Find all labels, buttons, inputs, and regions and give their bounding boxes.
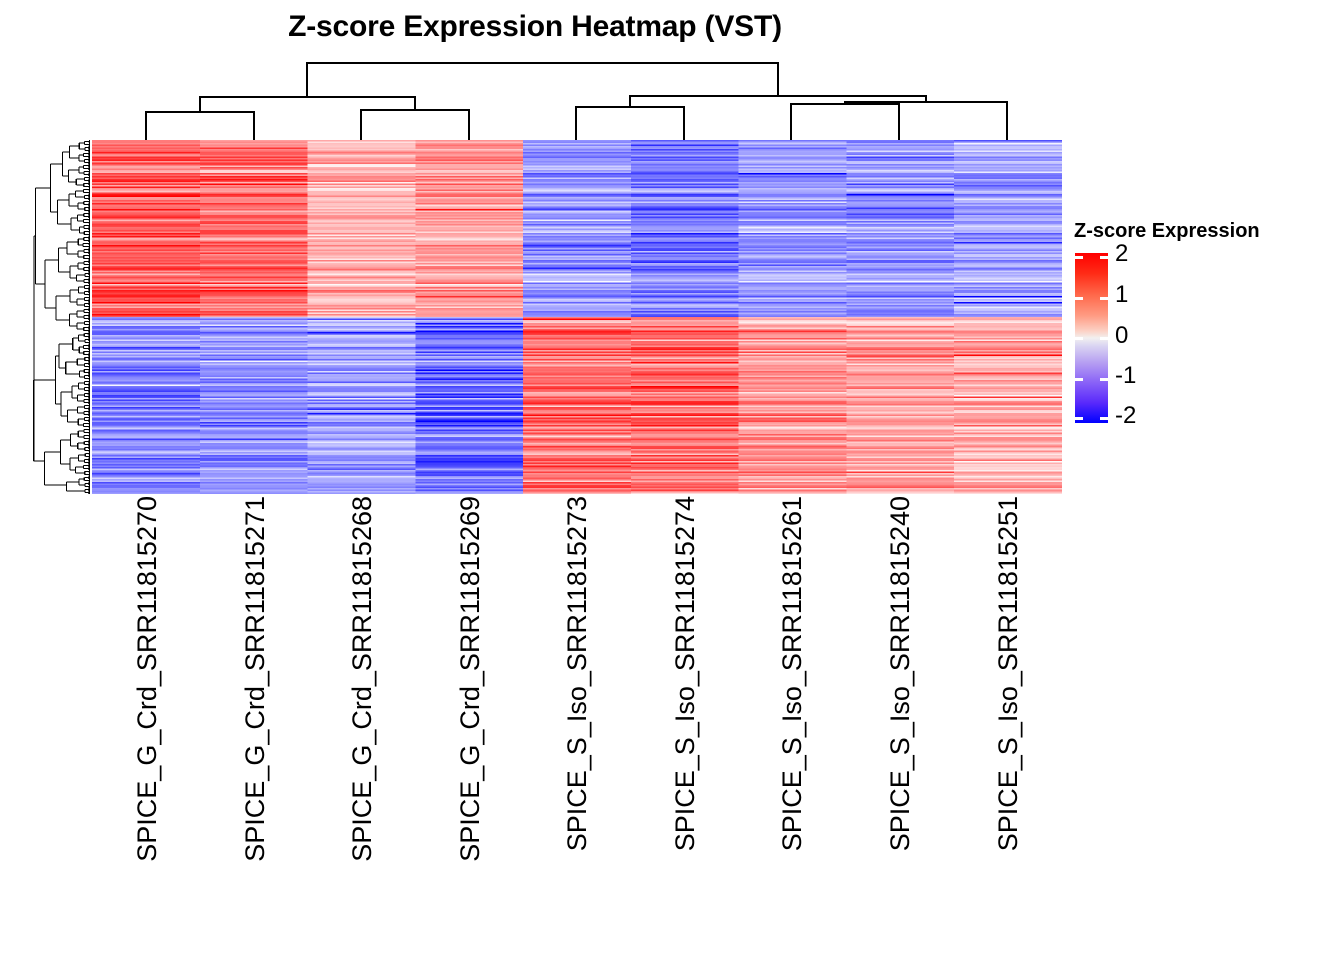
column-dendrogram <box>92 58 1062 140</box>
column-label-7: SPICE_S_Iso_SRR11815240 <box>887 496 914 851</box>
colorbar[interactable] <box>1075 253 1108 423</box>
column-label-2: SPICE_G_Crd_SRR11815268 <box>349 496 376 862</box>
column-label-0: SPICE_G_Crd_SRR11815270 <box>134 496 161 862</box>
colorbar-tick-1-right <box>1100 297 1108 300</box>
colorbar-tick-0-right <box>1100 337 1108 340</box>
heatmap-cells[interactable] <box>92 140 1062 494</box>
column-label-6: SPICE_S_Iso_SRR11815261 <box>779 496 806 851</box>
colorbar-tick-2-left <box>1075 256 1083 259</box>
legend-tick-label-2: 2 <box>1115 242 1128 266</box>
heatmap-figure: Z-score Expression Heatmap (VST) <box>0 0 1344 960</box>
column-label-3: SPICE_G_Crd_SRR11815269 <box>457 496 484 862</box>
colorbar-tick-1-left <box>1075 297 1083 300</box>
legend-tick-label-1: 1 <box>1115 283 1128 307</box>
column-labels: SPICE_G_Crd_SRR11815270 SPICE_G_Crd_SRR1… <box>92 496 1062 936</box>
legend-tick-label-neg2: -2 <box>1115 404 1136 428</box>
legend-tick-label-neg1: -1 <box>1115 364 1136 388</box>
column-label-4: SPICE_S_Iso_SRR11815273 <box>564 496 591 851</box>
colorbar-tick-0-left <box>1075 337 1083 340</box>
colorbar-tick-neg1-right <box>1100 378 1108 381</box>
heatmap-body[interactable] <box>92 140 1062 494</box>
colorbar-tick-neg2-right <box>1100 417 1108 420</box>
page-title: Z-score Expression Heatmap (VST) <box>0 10 1070 44</box>
column-label-1: SPICE_G_Crd_SRR11815271 <box>242 496 269 862</box>
row-dendrogram <box>16 140 90 494</box>
legend-title: Z-score Expression <box>1074 220 1260 243</box>
legend-tick-label-0: 0 <box>1115 324 1128 348</box>
colorbar-tick-2-right <box>1100 256 1108 259</box>
column-label-5: SPICE_S_Iso_SRR11815274 <box>672 496 699 851</box>
colorbar-tick-neg2-left <box>1075 417 1083 420</box>
column-label-8: SPICE_S_Iso_SRR11815251 <box>995 496 1022 851</box>
colorbar-tick-neg1-left <box>1075 378 1083 381</box>
